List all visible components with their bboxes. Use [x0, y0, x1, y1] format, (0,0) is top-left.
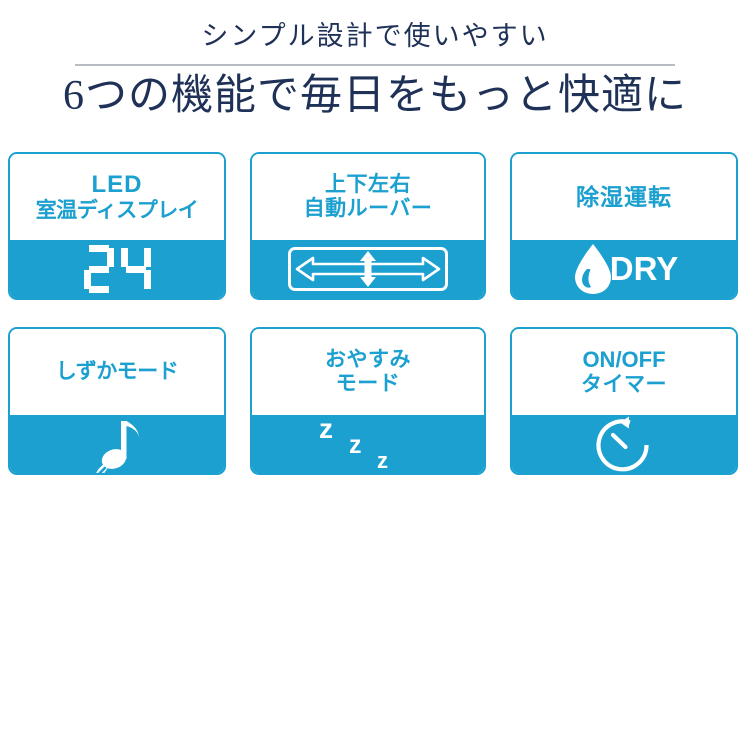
- page-header: シンプル設計で使いやすい 6つの機能で毎日をもっと快適に: [0, 0, 750, 120]
- feature-label-line1: おやすみ: [325, 348, 411, 372]
- feature-label-line1: ON/OFF: [581, 347, 667, 373]
- feature-card-icon-area: DRY: [512, 240, 736, 298]
- feature-label-line2: 自動ルーバー: [304, 197, 433, 221]
- feature-card-icon-area: [10, 415, 224, 475]
- four-way-arrows-icon: [288, 247, 448, 291]
- feature-card-label: 除湿運転: [512, 154, 736, 240]
- feature-card-dehumidify[interactable]: 除湿運転 DRY: [510, 152, 738, 300]
- feature-label-line1: 除湿運転: [576, 184, 672, 211]
- dry-label: DRY: [610, 250, 678, 288]
- feature-card-icon-area: [252, 240, 484, 298]
- feature-card-sleep-mode[interactable]: おやすみ モード z z z: [250, 327, 486, 475]
- arrows-svg: [293, 251, 443, 287]
- feature-card-on-off-timer[interactable]: ON/OFF タイマー: [510, 327, 738, 475]
- feature-card-icon-area: 24: [10, 240, 224, 298]
- zzz-letter: z: [377, 448, 388, 474]
- feature-card-led-room-temp-display[interactable]: LED 室温ディスプレイ 24: [8, 152, 226, 300]
- feature-label-line2: タイマー: [581, 373, 667, 397]
- feature-label-line2: モード: [325, 372, 411, 396]
- zzz-letter: z: [349, 431, 362, 460]
- zzz-letter: z: [319, 413, 333, 445]
- feature-card-quiet-mode[interactable]: しずかモード: [8, 327, 226, 475]
- feature-card-label: ON/OFF タイマー: [512, 329, 736, 415]
- seven-segment-digit: [121, 245, 151, 293]
- header-divider: [75, 64, 675, 66]
- seven-segment-digit: [84, 245, 114, 293]
- feature-card-auto-louver[interactable]: 上下左右 自動ルーバー: [250, 152, 486, 300]
- feature-card-icon-area: z z z: [252, 415, 484, 475]
- music-note-icon: [89, 415, 145, 475]
- feature-card-label: しずかモード: [10, 329, 224, 415]
- feature-card-label: おやすみ モード: [252, 329, 484, 415]
- feature-card-icon-area: [512, 415, 736, 475]
- feature-highlight-page: シンプル設計で使いやすい 6つの機能で毎日をもっと快適に LED 室温ディスプレ…: [0, 0, 750, 750]
- feature-label-line1: しずかモード: [56, 360, 179, 384]
- page-subtitle: シンプル設計で使いやすい: [0, 22, 750, 52]
- page-title: 6つの機能で毎日をもっと快適に: [0, 72, 750, 120]
- feature-label-line2: 室温ディスプレイ: [36, 199, 199, 223]
- feature-card-label: 上下左右 自動ルーバー: [252, 154, 484, 240]
- feature-card-grid: LED 室温ディスプレイ 24: [8, 152, 742, 475]
- feature-label-line1: 上下左右: [304, 173, 433, 197]
- feature-label-line1: LED: [36, 171, 199, 199]
- timer-clock-icon: [594, 415, 654, 475]
- feature-card-label: LED 室温ディスプレイ: [10, 154, 224, 240]
- seven-segment-display: [84, 245, 151, 293]
- sleep-zzz-icon: z z z: [313, 415, 423, 475]
